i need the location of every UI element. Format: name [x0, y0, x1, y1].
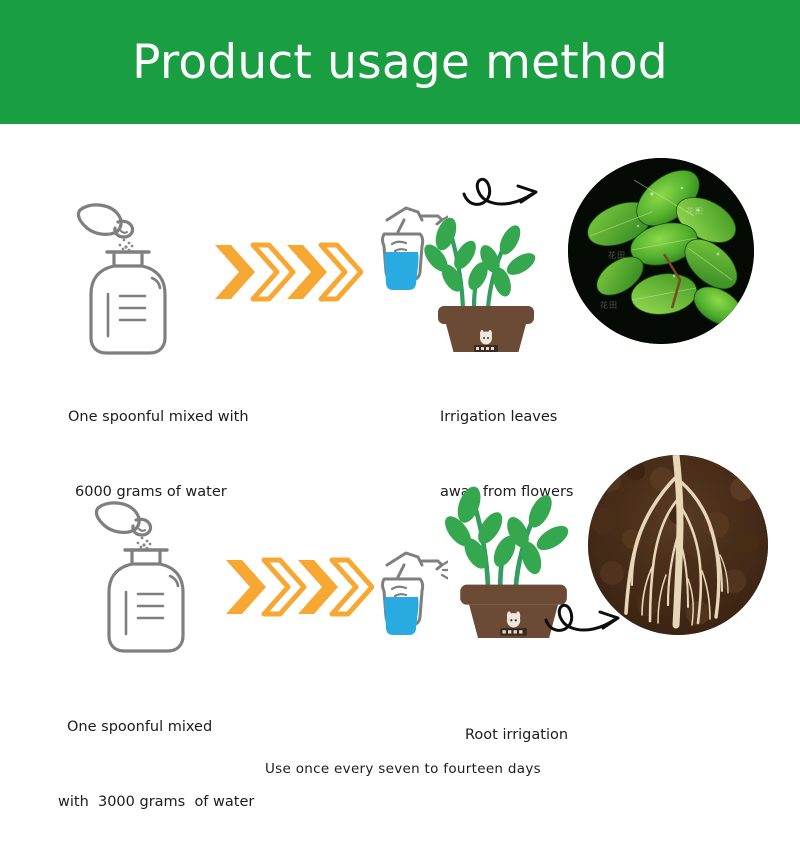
caption-row2-right-line1: Root irrigation	[465, 723, 568, 748]
spray-liquid	[385, 597, 419, 635]
powder-bottle-icon	[78, 488, 228, 653]
chevron-2	[264, 560, 304, 614]
curly-arrow-icon	[540, 592, 640, 648]
chevron-arrows-row2	[224, 555, 374, 625]
curly-arrow-row2	[540, 592, 640, 648]
caption-row2-left: One spoonful mixed with 3000 grams of wa…	[58, 665, 254, 865]
powder-granules-icon	[119, 239, 134, 252]
pot-rim	[438, 306, 534, 324]
plant-leaves	[440, 483, 572, 576]
caption-row1-right-line1: Irrigation leaves	[440, 405, 573, 430]
header-banner: Product usage method	[0, 0, 800, 124]
powder-bottle-icon	[60, 190, 210, 355]
powder-bottle-illustration-row1	[60, 190, 210, 355]
curly-arrow-icon	[458, 166, 558, 222]
chevron-1	[215, 245, 255, 299]
spray-liquid	[385, 252, 419, 290]
caption-row1-left-line1: One spoonful mixed with	[68, 405, 249, 430]
caption-row2-left-line1: One spoonful mixed	[58, 715, 254, 740]
chevron-arrows-row1	[213, 240, 363, 310]
potted-plant-icon	[418, 212, 553, 352]
potted-plant-row1	[418, 212, 553, 352]
page-title: Product usage method	[132, 39, 668, 86]
product-usage-infographic: Product usage method	[0, 0, 800, 800]
plant-leaves	[420, 215, 539, 299]
powder-granules-icon	[137, 537, 152, 550]
green-leaves-photo: 花田 花田 花田	[568, 158, 754, 344]
chevron-1	[226, 560, 266, 614]
footer-note: Use once every seven to fourteen days	[265, 757, 541, 782]
caption-row2-left-line2: with 3000 grams of water	[58, 790, 254, 815]
chevron-arrows-icon	[213, 240, 363, 310]
chevron-2	[253, 245, 293, 299]
curly-arrow-row1	[458, 166, 558, 222]
chevron-arrows-icon	[224, 555, 374, 625]
powder-bottle-illustration-row2	[78, 488, 228, 653]
